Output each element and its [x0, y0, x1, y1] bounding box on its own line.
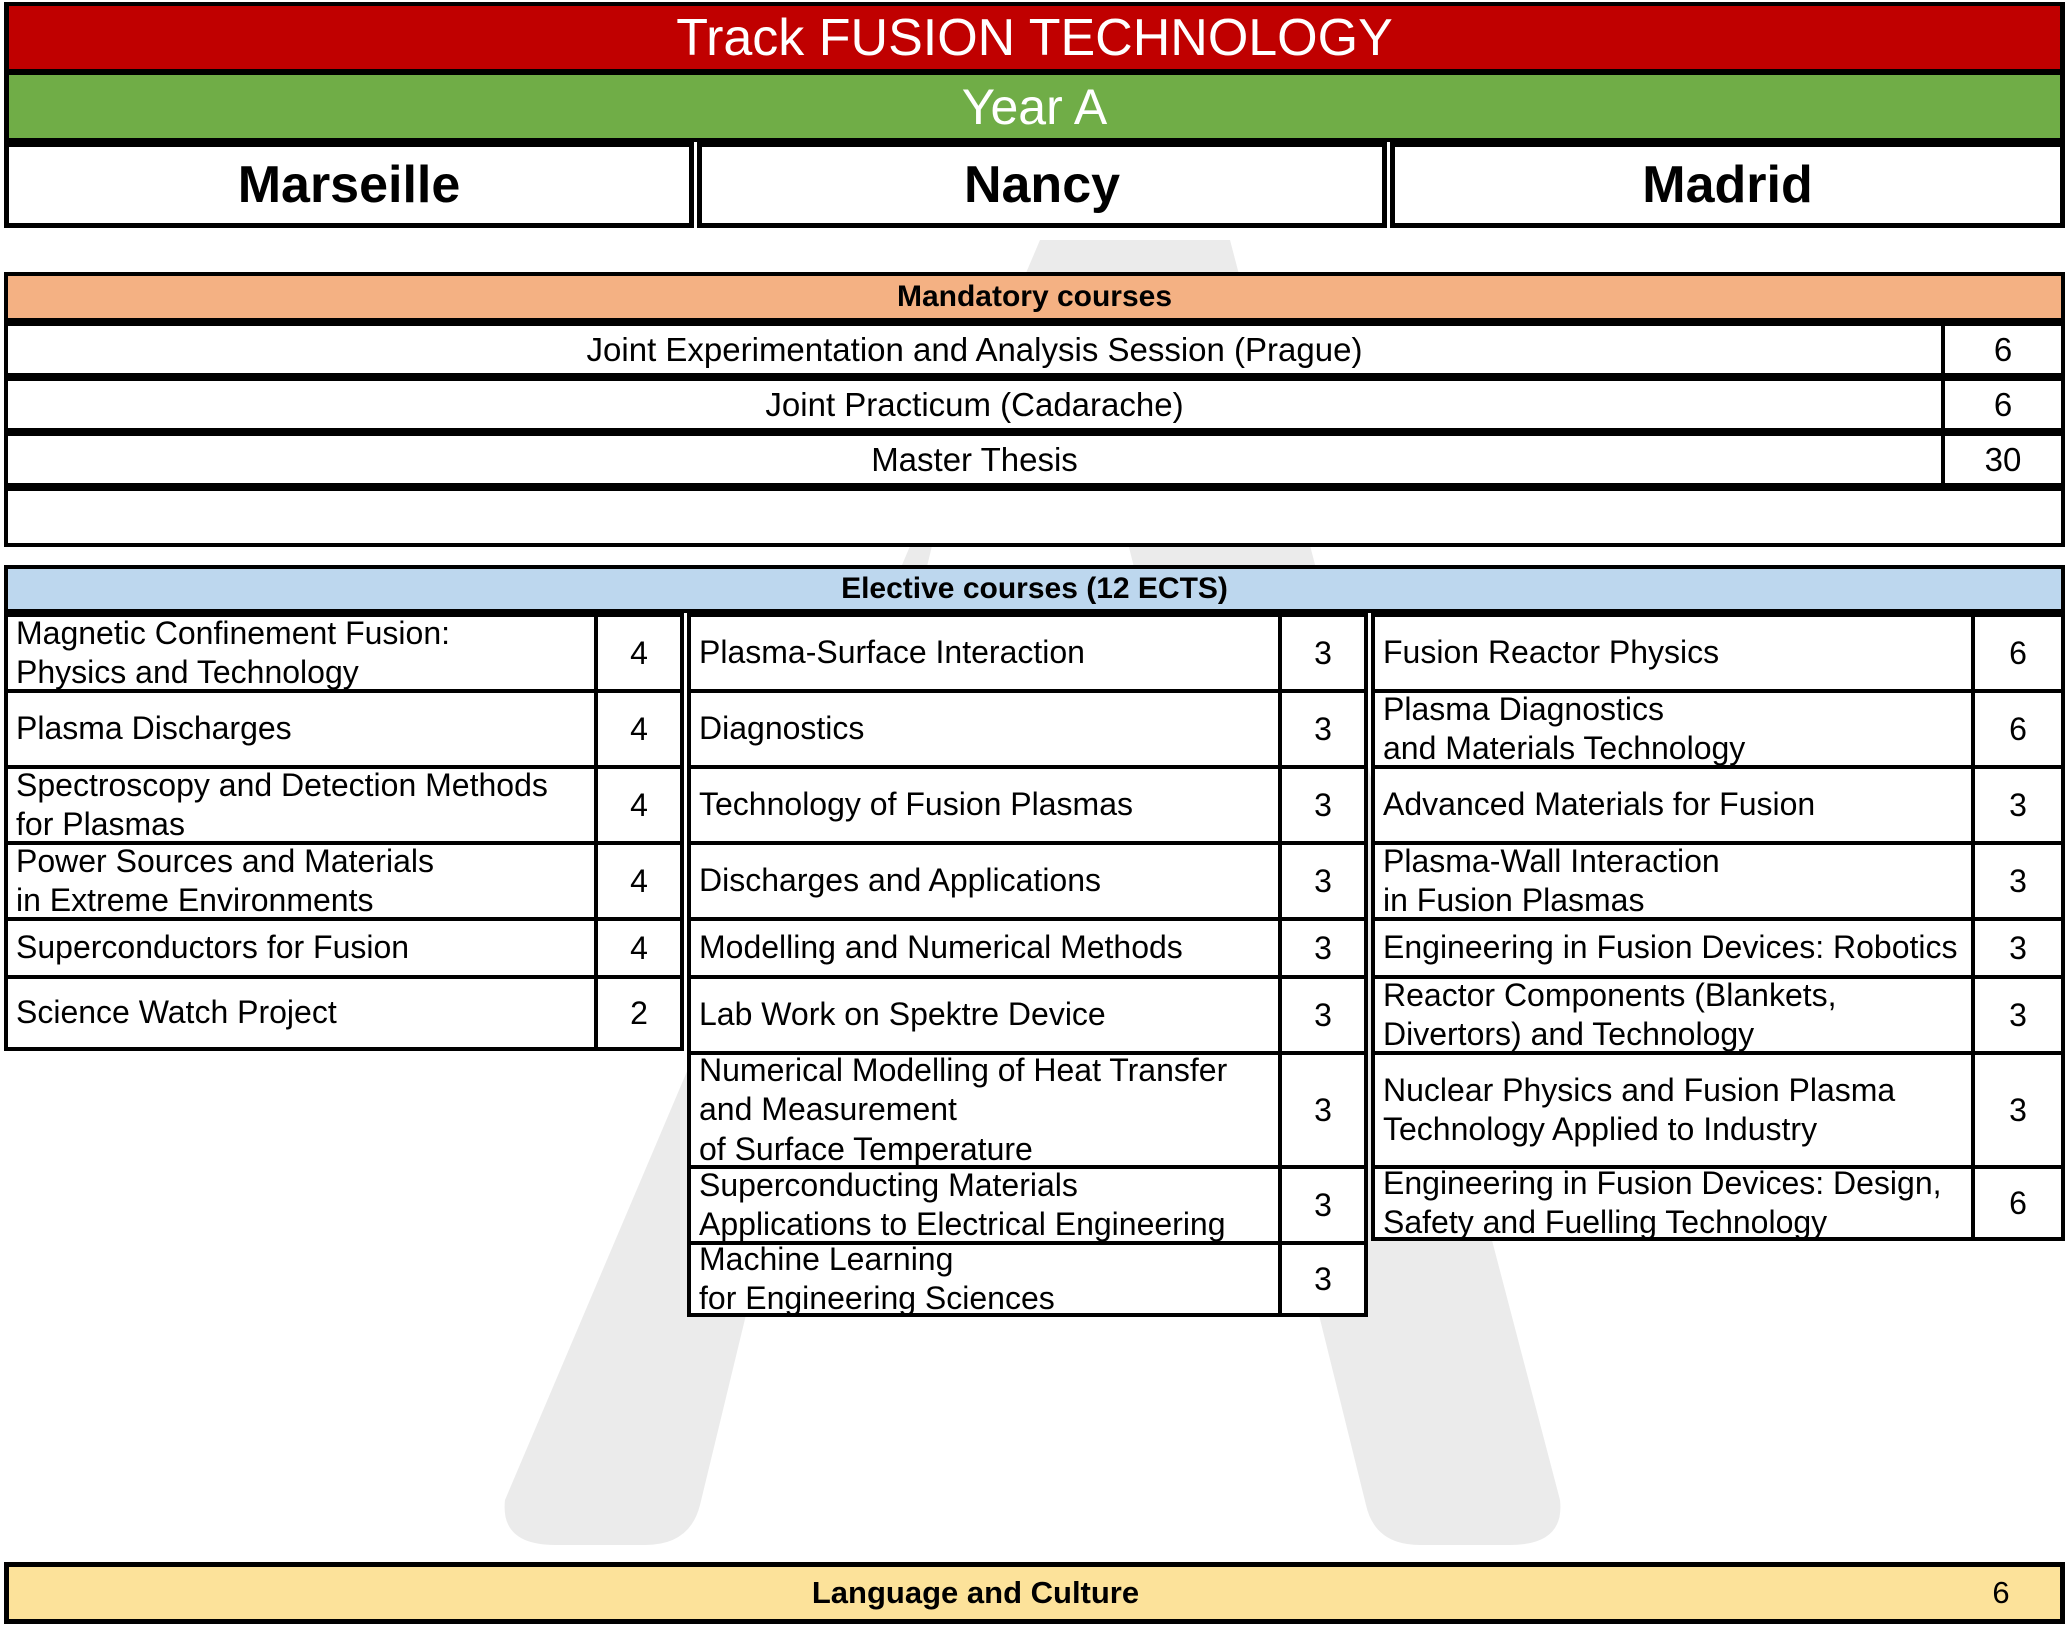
city-header-marseille: Marseille: [4, 142, 694, 228]
course-name: Nuclear Physics and Fusion PlasmaTechnol…: [1375, 1055, 1971, 1165]
course-ects: 3: [1278, 617, 1364, 689]
course-name-line: Discharges and Applications: [699, 861, 1270, 900]
course-ects: 6: [1971, 693, 2061, 765]
table-row: Modelling and Numerical Methods3: [687, 917, 1368, 975]
course-ects: 3: [1278, 1055, 1364, 1165]
table-row: Joint Practicum (Cadarache) 6: [4, 377, 2065, 432]
city-header-madrid: Madrid: [1390, 142, 2065, 228]
course-name: Engineering in Fusion Devices: Design,Sa…: [1375, 1169, 1971, 1237]
course-name: Engineering in Fusion Devices: Robotics: [1375, 921, 1971, 975]
course-name-line: for Plasmas: [16, 805, 586, 844]
course-name-line: of Surface Temperature: [699, 1130, 1270, 1169]
footer-ects: 6: [1942, 1567, 2060, 1619]
table-row: Plasma Discharges4: [4, 689, 684, 765]
course-name-line: Engineering in Fusion Devices: Robotics: [1383, 928, 1963, 967]
city-label: Madrid: [1642, 155, 1812, 215]
course-ects: 3: [1971, 1055, 2061, 1165]
elective-section-title: Elective courses (12 ECTS): [841, 572, 1228, 606]
course-ects: 3: [1971, 845, 2061, 917]
course-name-line: Machine Learning: [699, 1240, 1270, 1279]
course-name: Science Watch Project: [8, 979, 594, 1047]
course-ects: 3: [1278, 1169, 1364, 1241]
course-name-line: Superconducting Materials: [699, 1166, 1270, 1205]
course-ects: 3: [1971, 921, 2061, 975]
course-name: Spectroscopy and Detection Methodsfor Pl…: [8, 769, 594, 841]
course-name: Lab Work on Spektre Device: [691, 979, 1278, 1051]
course-name-line: Technology Applied to Industry: [1383, 1110, 1963, 1149]
course-name: Superconductors for Fusion: [8, 921, 594, 975]
course-name: Advanced Materials for Fusion: [1375, 769, 1971, 841]
course-ects: 4: [594, 769, 680, 841]
city-header-nancy: Nancy: [697, 142, 1387, 228]
course-name: Discharges and Applications: [691, 845, 1278, 917]
city-label: Nancy: [964, 155, 1120, 215]
course-name: Numerical Modelling of Heat Transferand …: [691, 1055, 1278, 1165]
footer-label: Language and Culture: [9, 1567, 1942, 1619]
course-ects: 6: [1941, 326, 2061, 373]
course-name: Fusion Reactor Physics: [1375, 617, 1971, 689]
course-ects: 3: [1971, 979, 2061, 1051]
course-name: Plasma-Surface Interaction: [691, 617, 1278, 689]
table-row: Numerical Modelling of Heat Transferand …: [687, 1051, 1368, 1165]
course-name-line: Applications to Electrical Engineering: [699, 1205, 1270, 1244]
course-name: Machine Learningfor Engineering Sciences: [691, 1245, 1278, 1313]
table-row: Science Watch Project2: [4, 975, 684, 1051]
course-name-line: for Engineering Sciences: [699, 1279, 1270, 1318]
course-name: Superconducting MaterialsApplications to…: [691, 1169, 1278, 1241]
course-name: Plasma Discharges: [8, 693, 594, 765]
table-row: Magnetic Confinement Fusion:Physics and …: [4, 613, 684, 689]
table-row: Nuclear Physics and Fusion PlasmaTechnol…: [1371, 1051, 2065, 1165]
empty-spacer-row: [4, 487, 2065, 547]
table-row: Engineering in Fusion Devices: Robotics3: [1371, 917, 2065, 975]
language-and-culture-row: Language and Culture 6: [4, 1562, 2065, 1624]
course-ects: 30: [1941, 436, 2061, 483]
table-row: Discharges and Applications3: [687, 841, 1368, 917]
course-name-line: Numerical Modelling of Heat Transfer: [699, 1051, 1270, 1090]
table-row: Fusion Reactor Physics6: [1371, 613, 2065, 689]
course-name-line: Diagnostics: [699, 709, 1270, 748]
course-ects: 2: [594, 979, 680, 1047]
mandatory-courses-header: Mandatory courses: [4, 272, 2065, 322]
course-name: Plasma-Wall Interactionin Fusion Plasmas: [1375, 845, 1971, 917]
course-ects: 4: [594, 845, 680, 917]
course-name-line: Nuclear Physics and Fusion Plasma: [1383, 1071, 1963, 1110]
course-name: Reactor Components (Blankets,Divertors) …: [1375, 979, 1971, 1051]
course-ects: 3: [1278, 1245, 1364, 1313]
table-row: Technology of Fusion Plasmas3: [687, 765, 1368, 841]
table-row: Plasma Diagnosticsand Materials Technolo…: [1371, 689, 2065, 765]
table-row: Lab Work on Spektre Device3: [687, 975, 1368, 1051]
course-ects: 4: [594, 693, 680, 765]
course-name-line: Magnetic Confinement Fusion:: [16, 614, 586, 653]
year-label: Year A: [962, 78, 1108, 136]
course-name: Modelling and Numerical Methods: [691, 921, 1278, 975]
course-name-line: Reactor Components (Blankets,: [1383, 976, 1963, 1015]
mandatory-section-title: Mandatory courses: [897, 280, 1172, 314]
city-label: Marseille: [238, 155, 461, 215]
course-name-line: in Extreme Environments: [16, 881, 586, 920]
course-name-line: Fusion Reactor Physics: [1383, 633, 1963, 672]
course-ects: 3: [1278, 979, 1364, 1051]
course-name-line: and Measurement: [699, 1090, 1270, 1129]
course-name-line: Plasma Diagnostics: [1383, 690, 1963, 729]
course-name: Diagnostics: [691, 693, 1278, 765]
course-name-line: Divertors) and Technology: [1383, 1015, 1963, 1054]
elective-courses-header: Elective courses (12 ECTS): [4, 565, 2065, 613]
course-ects: 6: [1971, 1169, 2061, 1237]
course-name: Joint Practicum (Cadarache): [8, 381, 1941, 428]
elective-column-nancy: Plasma-Surface Interaction3Diagnostics3T…: [687, 613, 1368, 1317]
course-name-line: Science Watch Project: [16, 993, 586, 1032]
table-row: Reactor Components (Blankets,Divertors) …: [1371, 975, 2065, 1051]
table-row: Engineering in Fusion Devices: Design,Sa…: [1371, 1165, 2065, 1241]
table-row: Superconducting MaterialsApplications to…: [687, 1165, 1368, 1241]
course-name-line: Modelling and Numerical Methods: [699, 928, 1270, 967]
table-row: Diagnostics3: [687, 689, 1368, 765]
course-name-line: Plasma-Wall Interaction: [1383, 842, 1963, 881]
course-name: Technology of Fusion Plasmas: [691, 769, 1278, 841]
course-name-line: Advanced Materials for Fusion: [1383, 785, 1963, 824]
track-title-band: Track FUSION TECHNOLOGY: [4, 2, 2065, 72]
table-row: Advanced Materials for Fusion3: [1371, 765, 2065, 841]
course-name-line: Power Sources and Materials: [16, 842, 586, 881]
table-row: Plasma-Wall Interactionin Fusion Plasmas…: [1371, 841, 2065, 917]
table-row: Plasma-Surface Interaction3: [687, 613, 1368, 689]
year-band: Year A: [4, 72, 2065, 142]
course-name: Master Thesis: [8, 436, 1941, 483]
course-name-line: Lab Work on Spektre Device: [699, 995, 1270, 1034]
course-ects: 3: [1278, 693, 1364, 765]
table-row: Machine Learningfor Engineering Sciences…: [687, 1241, 1368, 1317]
course-ects: 6: [1941, 381, 2061, 428]
elective-column-marseille: Magnetic Confinement Fusion:Physics and …: [4, 613, 684, 1051]
course-ects: 4: [594, 921, 680, 975]
course-name-line: Superconductors for Fusion: [16, 928, 586, 967]
course-ects: 4: [594, 617, 680, 689]
course-name-line: Engineering in Fusion Devices: Design,: [1383, 1164, 1963, 1203]
course-name-line: Spectroscopy and Detection Methods: [16, 766, 586, 805]
course-name-line: Plasma-Surface Interaction: [699, 633, 1270, 672]
course-name: Plasma Diagnosticsand Materials Technolo…: [1375, 693, 1971, 765]
course-ects: 3: [1278, 921, 1364, 975]
table-row: Superconductors for Fusion4: [4, 917, 684, 975]
course-name-line: Technology of Fusion Plasmas: [699, 785, 1270, 824]
course-name: Joint Experimentation and Analysis Sessi…: [8, 326, 1941, 373]
course-name-line: and Materials Technology: [1383, 729, 1963, 768]
course-name: Power Sources and Materialsin Extreme En…: [8, 845, 594, 917]
course-ects: 6: [1971, 617, 2061, 689]
city-header-row: Marseille Nancy Madrid: [4, 142, 2065, 228]
course-ects: 3: [1278, 845, 1364, 917]
track-title: Track FUSION TECHNOLOGY: [676, 8, 1393, 68]
course-name: Magnetic Confinement Fusion:Physics and …: [8, 617, 594, 689]
schedule-page: Track FUSION TECHNOLOGY Year A Marseille…: [0, 0, 2069, 1640]
table-row: Spectroscopy and Detection Methodsfor Pl…: [4, 765, 684, 841]
elective-column-madrid: Fusion Reactor Physics6Plasma Diagnostic…: [1371, 613, 2065, 1241]
course-name-line: in Fusion Plasmas: [1383, 881, 1963, 920]
table-row: Power Sources and Materialsin Extreme En…: [4, 841, 684, 917]
course-ects: 3: [1971, 769, 2061, 841]
course-name-line: Physics and Technology: [16, 653, 586, 692]
course-ects: 3: [1278, 769, 1364, 841]
table-row: Joint Experimentation and Analysis Sessi…: [4, 322, 2065, 377]
course-name-line: Safety and Fuelling Technology: [1383, 1203, 1963, 1242]
table-row: Master Thesis 30: [4, 432, 2065, 487]
course-name-line: Plasma Discharges: [16, 709, 586, 748]
